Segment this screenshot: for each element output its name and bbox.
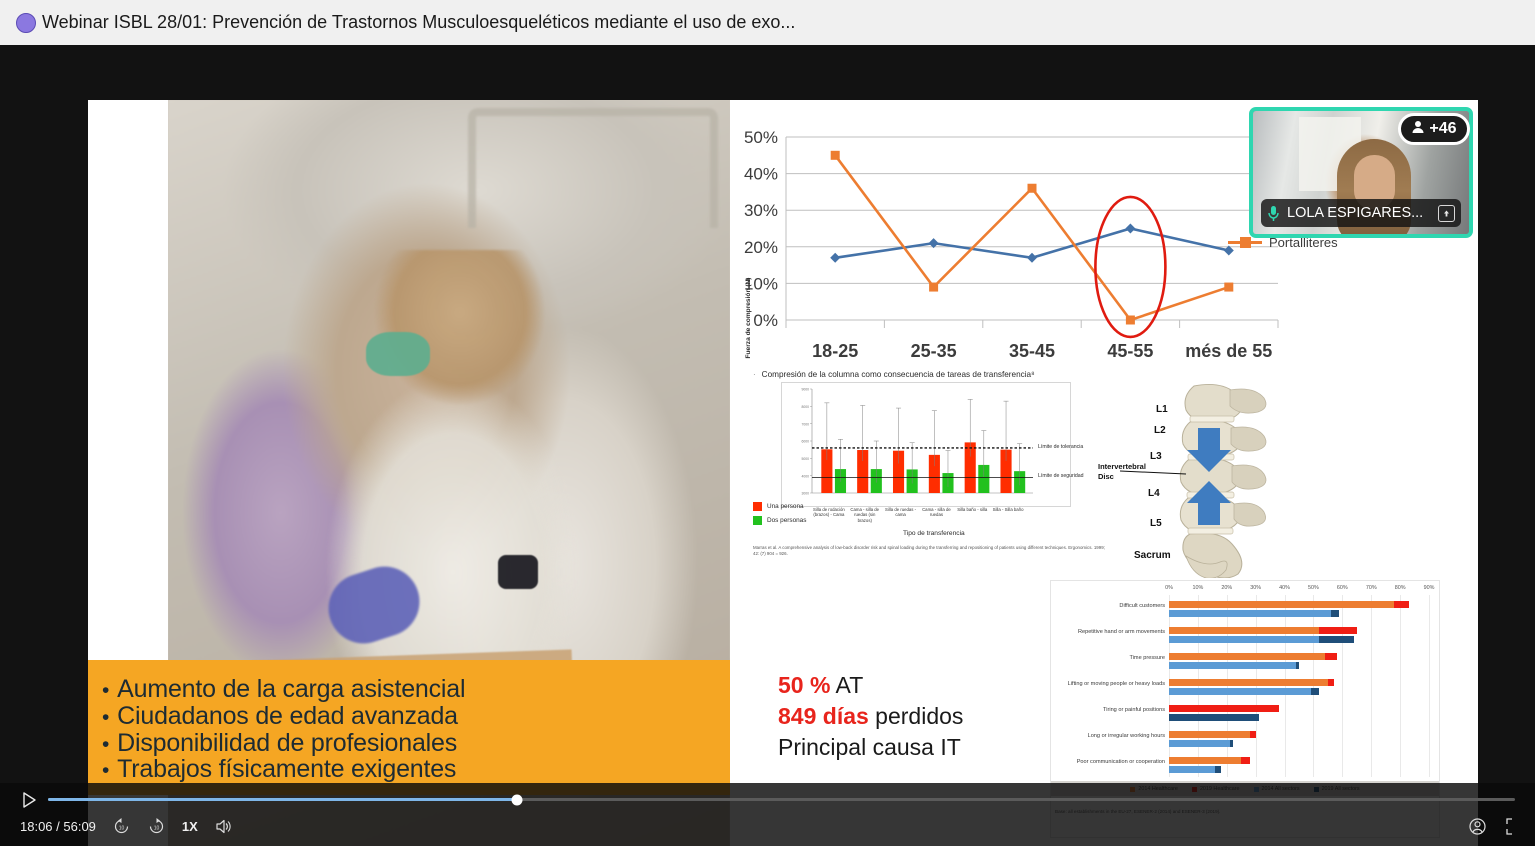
line-chart-svg: 0%10%20%30%40%50% 18-2525-3535-4545-55mé… [728,115,1288,375]
intervertebral-disc-label-line2: Disc [1098,472,1114,481]
svg-text:5000: 5000 [801,457,809,461]
page-header: Webinar ISBL 28/01: Prevención de Trasto… [0,0,1535,45]
esener-bar-2019-healthcare [1319,627,1357,634]
esener-bar-2014-all-sectors [1169,636,1319,643]
page-title: Webinar ISBL 28/01: Prevención de Trasto… [42,12,795,33]
chart-x-axis-ticks: 18-2525-3535-4545-55més de 55 [812,341,1272,361]
series-marker [1125,224,1135,234]
video-player[interactable]: • Aumento de la carga asistencial • Ciud… [0,45,1535,846]
x-tick-label: 50% [1308,585,1319,591]
compression-category-label: Cama - silla de ruedas [919,507,955,518]
purple-circle-icon [16,13,36,33]
esener-bar-2019-healthcare [1241,757,1250,764]
volume-icon[interactable] [214,817,233,836]
compression-source-note: Marras et al. A comprehensive analysis o… [753,545,1105,557]
esener-bar-2019-all-sectors [1230,740,1233,747]
legend-label: Dos personas [767,517,806,524]
person-icon [1411,120,1425,139]
pin-participant-icon[interactable] [1438,205,1455,222]
x-tick-label: 25-35 [911,341,957,361]
caption-text: Disponibilidad de profesionales [117,730,457,757]
spinal-compression-chart-block: · Compresión de la columna como consecue… [753,370,1113,555]
participants-overflow-badge[interactable]: +46 [1398,113,1470,145]
esener-bar-row: Time pressure [1169,651,1439,677]
esener-bar-2019-all-sectors [1319,636,1354,643]
x-tick-label: 18-25 [812,341,858,361]
slide-statistics: 50 % AT 849 días perdidos Principal caus… [778,670,963,763]
esener-category-label: Poor communication or cooperation [1077,759,1165,765]
esener-bar-2014-healthcare [1169,679,1328,686]
compression-bars [821,399,1025,493]
stat-rest: AT [830,672,863,698]
compression-legend: Una persona Dos personas [753,502,806,530]
playback-speed-button[interactable]: 1X [182,819,198,834]
series-marker [830,253,840,263]
esener-bar-2019-healthcare [1250,731,1256,738]
esener-bar-2014-healthcare [1169,757,1241,764]
stat-line-1: 50 % AT [778,670,963,701]
y-tick-label: 20% [744,238,778,257]
spine-label-l1: L1 [1156,404,1168,415]
spine-label-l3: L3 [1150,451,1162,462]
x-tick-label: 60% [1337,585,1348,591]
esener-bar-2019-healthcare [1394,601,1408,608]
bullet-dot-icon: • [102,734,109,755]
compression-category-label: Cama - silla de ruedas (sin brazos) [847,507,883,523]
progress-bar[interactable] [48,798,1515,801]
esener-bar-row: Long or irregular working hours [1169,729,1439,755]
x-tick-label: 80% [1395,585,1406,591]
esener-bar-2019-all-sectors [1169,714,1259,721]
legend-swatch-una-persona [753,502,762,511]
bullet-dot-icon: • [102,760,109,781]
x-tick-label: 70% [1366,585,1377,591]
bed-rail-shape [468,108,718,228]
y-tick-label: 30% [744,201,778,220]
compression-category-label: Silla de ruedas - cama [883,507,919,518]
controls-right-group [1468,817,1515,836]
spine-label-l2: L2 [1154,425,1166,436]
caption-bullet-item: • Disponibilidad de profesionales [102,730,730,757]
stat-rest: perdidos [869,703,964,729]
series-marker [1028,184,1037,193]
lumbar-spine-diagram: L1 L2 L3 L4 L5 Intervertebral Disc Sacru… [1098,378,1293,578]
compression-category-label: Silla de rodación (brazos) - Cama [811,507,847,518]
vertebrae-shapes [1180,384,1266,578]
esener-bar-2019-all-sectors [1215,766,1221,773]
esener-bar-2014-healthcare [1169,653,1325,660]
esener-bar-row: Poor communication or cooperation [1169,755,1439,781]
legend-swatch-dos-personas [753,516,762,525]
esener-category-label: Time pressure [1129,655,1165,661]
series-marker [831,151,840,160]
svg-text:7000: 7000 [801,422,809,426]
chart-gridlines [786,137,1278,328]
stat-line-2: 849 días perdidos [778,701,963,732]
svg-text:10: 10 [154,826,160,832]
sacrum-label: Sacrum [1134,550,1171,561]
esener-bar-2014-all-sectors [1169,688,1311,695]
esener-bar-2019-all-sectors [1331,610,1340,617]
spine-svg [1098,378,1293,578]
caption-bullet-item: • Aumento de la carga asistencial [102,676,730,703]
series-marker [1027,253,1037,263]
age-distribution-line-chart: 0%10%20%30%40%50% 18-2525-3535-4545-55mé… [728,115,1288,375]
esener-bar-2014-all-sectors [1169,662,1296,669]
esener-bar-row: Lifting or moving people or heavy loads [1169,677,1439,703]
bullet-dash-icon: · [753,370,756,379]
participant-name-bar: LOLA ESPIGARES... [1261,199,1461,227]
x-tick-label: 40% [1279,585,1290,591]
stat-highlight: 849 días [778,703,869,729]
compression-reference-label: Límite de seguridad [1038,473,1084,479]
microphone-icon [1267,205,1280,222]
x-tick-label: 10% [1192,585,1203,591]
esener-category-label: Repetitive hand or arm movements [1078,629,1165,635]
bullet-dot-icon: • [102,680,109,701]
participant-name-label: LOLA ESPIGARES... [1287,205,1431,221]
x-tick-label: 90% [1424,585,1435,591]
svg-text:10: 10 [119,826,125,832]
esener-bar-row: Difficult customers [1169,599,1439,625]
esener-bar-2014-all-sectors [1169,610,1331,617]
x-tick-label: 45-55 [1107,341,1153,361]
compression-reference-label: Límite de tolerancia [1038,444,1083,450]
compression-legend-item: Una persona [753,502,806,511]
series-marker [1224,283,1233,292]
forward-10-icon[interactable]: 10 [147,817,166,836]
esener-category-label: Difficult customers [1119,603,1165,609]
spine-label-l4: L4 [1148,488,1160,499]
y-tick-label: 0% [753,311,778,330]
legend-label: Una persona [767,503,804,510]
rewind-10-icon[interactable]: 10 [112,817,131,836]
controls-row: 18:06 / 56:09 10 10 1X [0,812,1535,842]
x-tick-label: 0% [1165,585,1173,591]
svg-text:9000: 9000 [801,388,809,392]
esener-bar-2019-healthcare [1169,705,1279,712]
progress-fill [48,798,517,801]
esener-bar-2014-healthcare [1169,731,1250,738]
progress-row [0,788,1535,812]
esener-bar-row: Tiring or painful positions [1169,703,1439,729]
fullscreen-icon[interactable] [1505,817,1515,836]
x-tick-label: 20% [1221,585,1232,591]
compression-category-label: Silla baño - silla [954,507,990,512]
esener-category-label: Tiring or painful positions [1103,707,1165,713]
compression-x-axis-label: Tipo de transferencia [903,530,965,537]
compression-chart-svg: 3000400050006000700080009000 [782,383,1072,508]
series-marker [1126,316,1135,325]
y-tick-label: 40% [744,165,778,184]
esener-bar-2014-healthcare [1169,627,1319,634]
play-icon[interactable] [20,791,38,809]
account-icon[interactable] [1468,817,1487,836]
participants-count-label: +46 [1429,120,1456,138]
series-marker [929,283,938,292]
compression-plot-area: 3000400050006000700080009000 [781,382,1071,507]
stat-highlight: 50 % [778,672,830,698]
svg-text:6000: 6000 [801,440,809,444]
spine-label-l5: L5 [1150,518,1162,529]
caption-text: Trabajos físicamente exigentes [117,756,456,783]
x-tick-label: més de 55 [1185,341,1272,361]
compression-chart-title: Compresión de la columna como consecuenc… [762,370,1035,379]
chart-series-group [830,151,1234,325]
compression-chart-title-row: · Compresión de la columna como consecue… [753,370,1113,379]
esener-plot-area: 0%10%20%30%40%50%60%70%80%90% Difficult … [1051,581,1439,781]
progress-handle[interactable] [512,794,523,805]
esener-category-label: Long or irregular working hours [1088,733,1165,739]
compression-legend-item: Dos personas [753,516,806,525]
x-tick-label: 30% [1250,585,1261,591]
caption-text: Aumento de la carga asistencial [117,676,465,703]
esener-bar-row: Repetitive hand or arm movements [1169,625,1439,651]
y-tick-label: 50% [744,128,778,147]
svg-text:4000: 4000 [801,474,809,478]
svg-text:8000: 8000 [801,405,809,409]
esener-bar-2019-healthcare [1328,679,1334,686]
slide-caption-box: • Aumento de la carga asistencial • Ciud… [88,660,730,795]
esener-bar-2014-all-sectors [1169,766,1215,773]
caption-bullet-item: • Ciudadanos de edad avanzada [102,703,730,730]
esener-category-label: Lifting or moving people or heavy loads [1068,681,1165,687]
esener-bar-2014-healthcare [1169,601,1394,608]
bullet-dot-icon: • [102,707,109,728]
stat-line-3: Principal causa IT [778,732,963,763]
legend-swatch-portalliteres [1228,241,1262,244]
x-tick-label: 35-45 [1009,341,1055,361]
esener-bar-2014-all-sectors [1169,740,1230,747]
caption-text: Ciudadanos de edad avanzada [117,703,458,730]
esener-bar-2019-healthcare [1325,653,1337,660]
surgical-mask-shape [366,332,430,376]
compression-category-label: Silla - Silla baño [990,507,1026,512]
caption-bullet-item: • Trabajos físicamente exigentes [102,756,730,783]
svg-text:3000: 3000 [801,492,809,496]
wristwatch-shape [498,555,538,589]
esener-bar-2019-all-sectors [1296,662,1299,669]
disc-leader-line [1120,471,1186,474]
compression-y-axis-label: Fuerza de compresión (N) [745,258,752,378]
time-display: 18:06 / 56:09 [20,819,96,834]
intervertebral-disc-label-line1: Intervertebral [1098,462,1146,471]
player-controls: 18:06 / 56:09 10 10 1X [0,783,1535,846]
esener-bar-2019-all-sectors [1311,688,1320,695]
